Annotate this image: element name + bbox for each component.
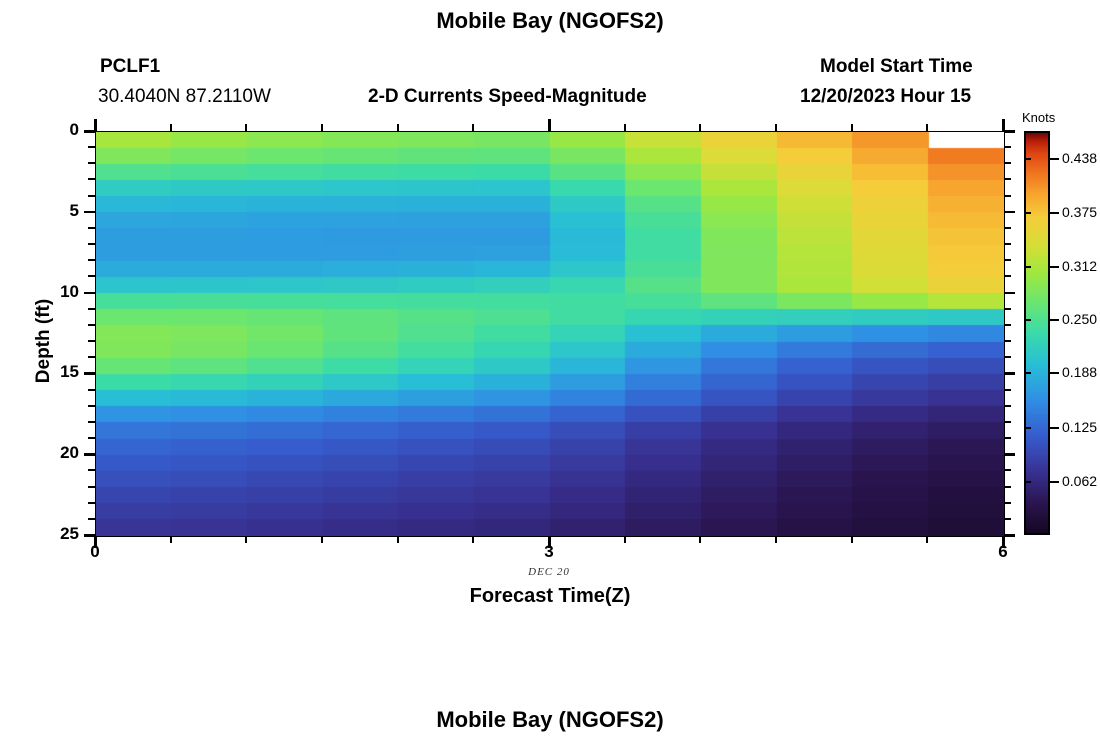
y-tick-right (1005, 308, 1011, 310)
y-tick-minor (88, 502, 95, 504)
x-tick-label: 3 (519, 542, 579, 562)
heatmap-plot-area (95, 131, 1005, 537)
x-tick-label: 6 (973, 542, 1033, 562)
colorbar-tickmark (1050, 266, 1059, 268)
x-tick-top (624, 124, 626, 131)
x-tick-minor (245, 537, 247, 543)
x-tick-top (1002, 119, 1005, 131)
y-tick-label: 15 (37, 362, 79, 382)
y-tick-right (1005, 162, 1011, 164)
y-tick-right (1005, 275, 1011, 277)
colorbar-tick-label: 0.125 (1062, 419, 1100, 435)
page-title: Mobile Bay (NGOFS2) (0, 8, 1100, 34)
y-tick-label: 0 (37, 120, 79, 140)
colorbar-inner-tickmark (1024, 319, 1031, 321)
x-tick-minor (170, 537, 172, 543)
y-tick-minor (88, 195, 95, 197)
y-tick-minor (88, 162, 95, 164)
y-tick-right (1005, 421, 1011, 423)
colorbar (1024, 131, 1050, 535)
colorbar-tickmark (1050, 319, 1059, 321)
y-tick-right (1005, 324, 1011, 326)
station-id-label: PCLF1 (100, 56, 160, 78)
y-tick-minor (88, 340, 95, 342)
y-tick-right (1005, 130, 1015, 133)
station-coordinates-label: 30.4040N 87.2110W (98, 86, 271, 108)
y-tick-label: 5 (37, 201, 79, 221)
y-tick-minor (88, 437, 95, 439)
colorbar-tickmark (1050, 427, 1059, 429)
model-start-time-value: 12/20/2023 Hour 15 (800, 86, 971, 108)
x-tick-minor (851, 537, 853, 543)
model-start-time-label: Model Start Time (820, 56, 973, 78)
y-tick-right (1005, 389, 1011, 391)
bottom-title: Mobile Bay (NGOFS2) (0, 707, 1100, 733)
y-tick-right (1005, 227, 1011, 229)
colorbar-tickmark (1050, 372, 1059, 374)
y-tick-major (84, 211, 95, 214)
y-tick-right (1005, 211, 1015, 214)
colorbar-tick-label: 0.312 (1062, 258, 1100, 274)
colorbar-title: Knots (1022, 110, 1055, 125)
y-tick-label: 10 (37, 282, 79, 302)
colorbar-tick-label: 0.250 (1062, 311, 1100, 327)
x-tick-top (472, 124, 474, 131)
colorbar-tickmark (1050, 158, 1059, 160)
colorbar-inner-tickmark (1024, 372, 1031, 374)
y-tick-right (1005, 502, 1011, 504)
y-tick-minor (88, 259, 95, 261)
y-tick-minor (88, 469, 95, 471)
colorbar-inner-tickmark (1024, 212, 1031, 214)
y-tick-minor (88, 421, 95, 423)
chart-subtitle: 2-D Currents Speed-Magnitude (368, 86, 647, 108)
colorbar-gradient (1026, 133, 1048, 533)
y-tick-right (1005, 405, 1011, 407)
x-axis-label: Forecast Time(Z) (0, 585, 1100, 608)
y-tick-major (84, 292, 95, 295)
colorbar-inner-tickmark (1024, 481, 1031, 483)
x-tick-top (321, 124, 323, 131)
y-tick-minor (88, 308, 95, 310)
y-tick-minor (88, 227, 95, 229)
y-tick-minor (88, 178, 95, 180)
y-tick-right (1005, 356, 1011, 358)
y-tick-right (1005, 178, 1011, 180)
x-tick-minor (775, 537, 777, 543)
colorbar-tick-label: 0.188 (1062, 364, 1100, 380)
y-tick-right (1005, 486, 1011, 488)
y-tick-minor (88, 389, 95, 391)
y-tick-right (1005, 453, 1015, 456)
y-tick-minor (88, 275, 95, 277)
y-tick-right (1005, 243, 1011, 245)
y-tick-right (1005, 437, 1011, 439)
y-tick-right (1005, 340, 1011, 342)
y-tick-minor (88, 486, 95, 488)
colorbar-tick-label: 0.062 (1062, 473, 1100, 489)
x-axis-date-label: DEC 20 (449, 566, 649, 578)
colorbar-tickmark (1050, 481, 1059, 483)
x-tick-minor (472, 537, 474, 543)
x-tick-top (397, 124, 399, 131)
y-tick-minor (88, 146, 95, 148)
y-tick-right (1005, 292, 1015, 295)
x-tick-top (548, 119, 551, 131)
y-tick-right (1005, 259, 1011, 261)
x-tick-top (775, 124, 777, 131)
x-tick-top (94, 119, 97, 131)
colorbar-inner-tickmark (1024, 427, 1031, 429)
heatmap-cells (96, 132, 1004, 536)
y-tick-major (84, 372, 95, 375)
y-tick-right (1005, 372, 1015, 375)
x-tick-top (170, 124, 172, 131)
x-tick-top (699, 124, 701, 131)
y-tick-right (1005, 146, 1011, 148)
colorbar-tick-label: 0.438 (1062, 150, 1100, 166)
y-tick-right (1005, 518, 1011, 520)
x-tick-minor (397, 537, 399, 543)
y-tick-minor (88, 243, 95, 245)
x-tick-minor (699, 537, 701, 543)
x-tick-label: 0 (65, 542, 125, 562)
y-tick-right (1005, 195, 1011, 197)
x-tick-minor (321, 537, 323, 543)
x-tick-top (926, 124, 928, 131)
y-tick-minor (88, 356, 95, 358)
y-tick-minor (88, 518, 95, 520)
y-tick-major (84, 453, 95, 456)
colorbar-tickmark (1050, 212, 1059, 214)
x-tick-minor (624, 537, 626, 543)
colorbar-inner-tickmark (1024, 266, 1031, 268)
y-tick-label: 20 (37, 443, 79, 463)
x-tick-top (245, 124, 247, 131)
y-tick-minor (88, 324, 95, 326)
colorbar-inner-tickmark (1024, 158, 1031, 160)
y-tick-right (1005, 534, 1015, 537)
y-tick-label: 25 (37, 524, 79, 544)
x-tick-minor (926, 537, 928, 543)
x-tick-top (851, 124, 853, 131)
y-tick-right (1005, 469, 1011, 471)
colorbar-tick-label: 0.375 (1062, 204, 1100, 220)
y-tick-minor (88, 405, 95, 407)
